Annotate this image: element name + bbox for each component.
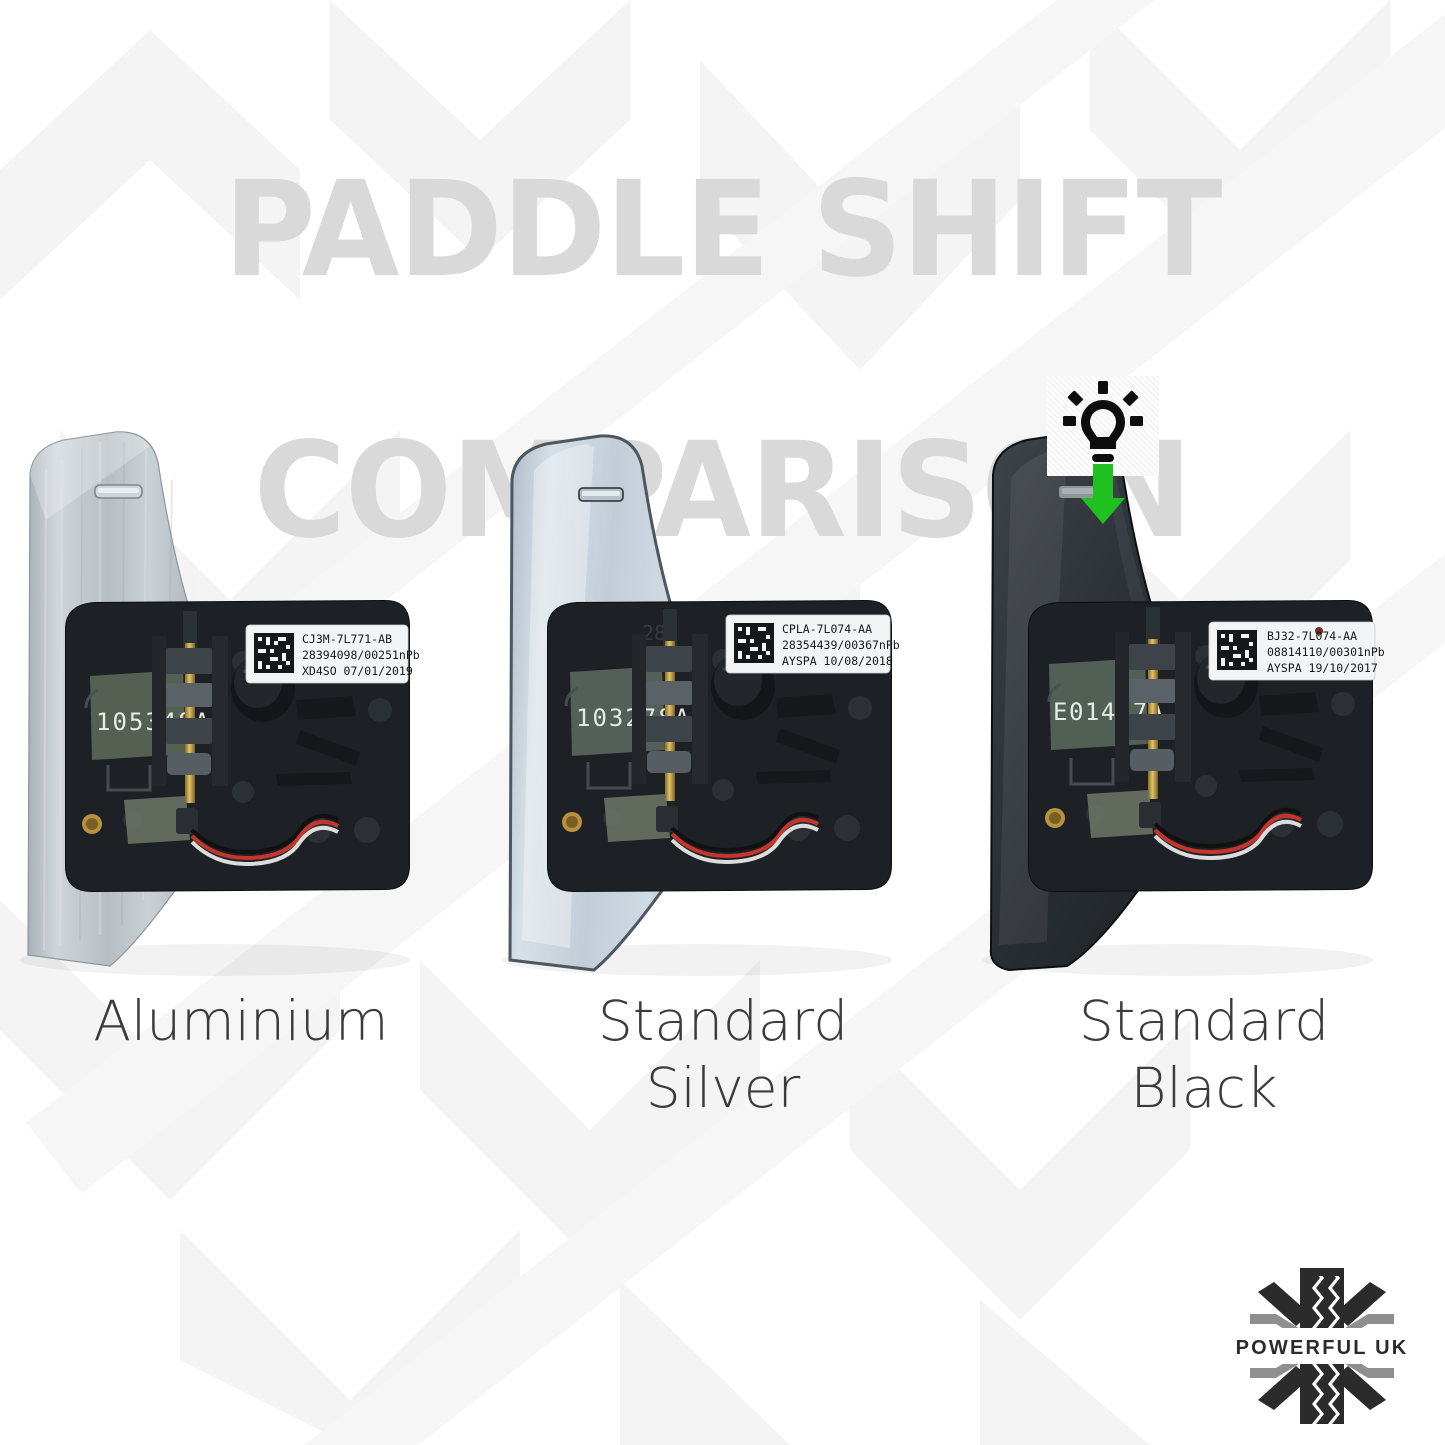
paddle-slot-standard-silver [579, 488, 623, 501]
screw-aluminium [82, 814, 102, 834]
down-arrow-icon [1081, 464, 1125, 524]
plant-date-standard-silver: AYSPA 10/08/2018 [782, 654, 893, 668]
annotation-graphics [1047, 376, 1159, 526]
screw-standard-black [1045, 808, 1065, 828]
page-title-line-1: PADDLE SHIFT [0, 165, 1445, 296]
batch-aluminium: 28394098/00251nPb [302, 648, 420, 662]
illumination-annotation [1047, 376, 1159, 526]
part-number-standard-silver: CPLA-7L074-AA [782, 622, 872, 636]
product-standard-black[interactable]: E01417A [963, 400, 1445, 1180]
product-caption-standard-silver: Standard Silver [482, 988, 964, 1122]
product-aluminium[interactable]: 105348A [0, 400, 482, 1180]
datamatrix-icon-standard-black [1217, 630, 1257, 670]
datamatrix-icon-aluminium [254, 633, 294, 673]
paddle-photo-standard-black: E01417A [963, 400, 1445, 1000]
pivot-shaft-standard-silver [632, 609, 708, 801]
datamatrix-icon-standard-silver [734, 623, 774, 663]
pivot-shaft-standard-black [1115, 607, 1191, 799]
product-caption-aluminium: Aluminium [0, 988, 482, 1055]
logo-tyre-tread-vertical-bottom [1300, 1364, 1344, 1424]
part-label-standard-black: BJ32-7L074-AA 08814110/00301nPb AYSPA 19… [1209, 622, 1385, 680]
plant-date-aluminium: XD4SO 07/01/2019 [302, 664, 413, 678]
product-caption-standard-black: Standard Black [963, 988, 1445, 1122]
part-number-aluminium: CJ3M-7L771-AB [302, 632, 392, 646]
product-standard-silver[interactable]: 283 103278A [482, 400, 964, 1180]
part-label-standard-silver: CPLA-7L074-AA 28354439/00367nPb AYSPA 10… [726, 615, 900, 673]
logo-text: POWERFUL UK [1236, 1337, 1409, 1359]
powerful-uk-logo: POWERFUL UK [1232, 1262, 1412, 1430]
plant-date-standard-black: AYSPA 19/10/2017 [1267, 661, 1378, 675]
paddle-photo-standard-silver: 283 103278A [482, 400, 964, 1000]
screw-standard-silver [562, 812, 582, 832]
paddle-photo-aluminium: 105348A [0, 400, 482, 1000]
batch-standard-silver: 28354439/00367nPb [782, 638, 900, 652]
part-label-aluminium: CJ3M-7L771-AB 28394098/00251nPb XD4SO 07… [246, 625, 420, 683]
paddle-slot-aluminium [95, 485, 142, 498]
pivot-shaft-aluminium [152, 611, 228, 803]
part-number-standard-black: BJ32-7L074-AA [1267, 629, 1357, 643]
brand-logo[interactable]: POWERFUL UK [1232, 1262, 1412, 1430]
logo-tyre-tread-vertical [1300, 1268, 1344, 1328]
batch-standard-black: 08814110/00301nPb [1267, 645, 1385, 659]
product-comparison-row: 105348A [0, 400, 1445, 1180]
lightbulb-icon [1063, 381, 1143, 462]
